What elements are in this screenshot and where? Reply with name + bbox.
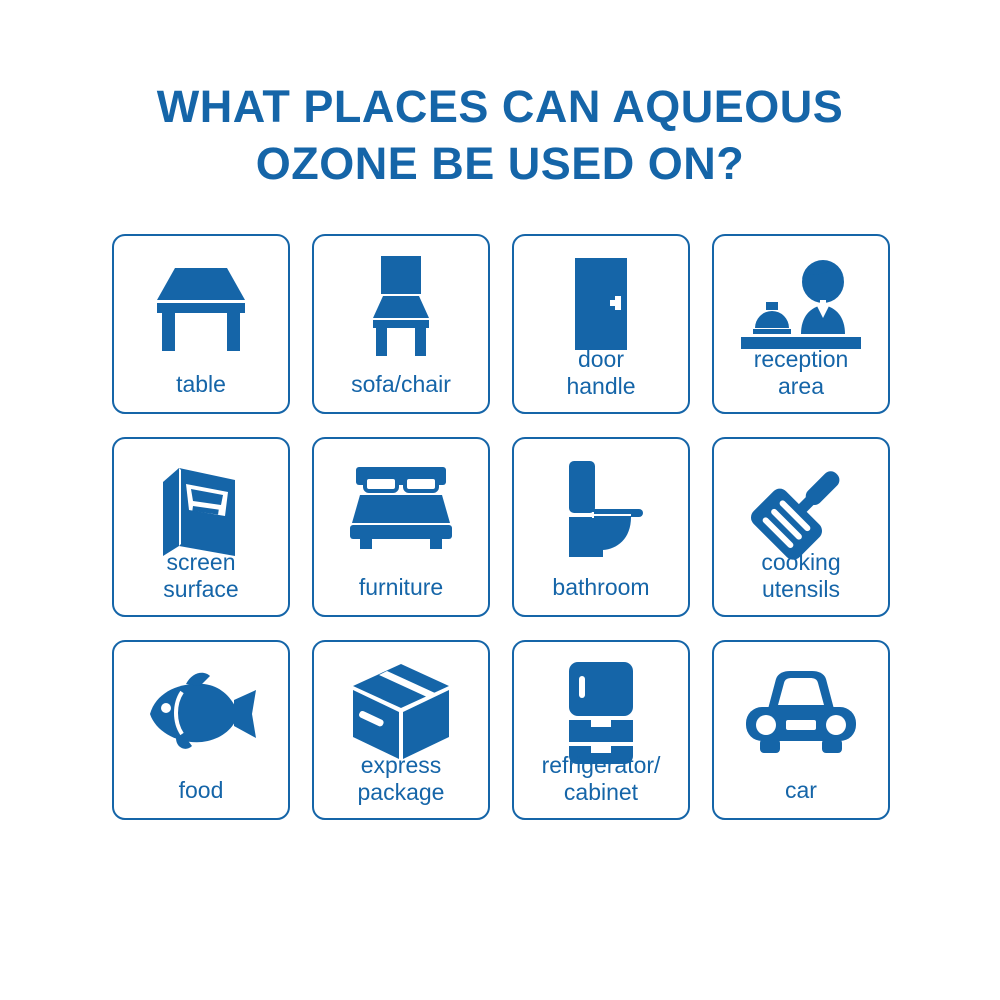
card-label: furniture (314, 574, 488, 601)
toilet-icon (526, 451, 676, 567)
card-label: table (114, 371, 288, 398)
grid-card-express-package[interactable]: express package (312, 640, 490, 820)
page-title: WHAT PLACES CAN AQUEOUS OZONE BE USED ON… (0, 78, 1000, 192)
card-label: refrigerator/ cabinet (514, 752, 688, 806)
card-label: bathroom (514, 574, 688, 601)
card-label: sofa/chair (314, 371, 488, 398)
grid-card-food[interactable]: food (112, 640, 290, 820)
card-label: express package (314, 752, 488, 806)
grid-card-door-handle[interactable]: door handle (512, 234, 690, 414)
icon-grid: table sofa/chair (112, 234, 892, 820)
card-label: screen surface (114, 549, 288, 603)
grid-card-sofa-chair[interactable]: sofa/chair (312, 234, 490, 414)
chair-icon (326, 248, 476, 364)
grid-card-cooking-utensils[interactable]: cooking utensils (712, 437, 890, 617)
grid-card-refrigerator-cabinet[interactable]: refrigerator/ cabinet (512, 640, 690, 820)
grid-card-bathroom[interactable]: bathroom (512, 437, 690, 617)
card-label: reception area (714, 346, 888, 400)
grid-card-reception-area[interactable]: reception area (712, 234, 890, 414)
grid-card-table[interactable]: table (112, 234, 290, 414)
card-label: cooking utensils (714, 549, 888, 603)
grid-card-furniture[interactable]: furniture (312, 437, 490, 617)
card-label: door handle (514, 346, 688, 400)
bed-icon (326, 451, 476, 567)
card-label: food (114, 777, 288, 804)
car-icon (726, 654, 876, 770)
poster-root: WHAT PLACES CAN AQUEOUS OZONE BE USED ON… (0, 0, 1000, 1000)
table-icon (126, 248, 276, 364)
fish-icon (126, 654, 276, 770)
card-label: car (714, 777, 888, 804)
grid-card-car[interactable]: car (712, 640, 890, 820)
grid-card-screen-surface[interactable]: screen surface (112, 437, 290, 617)
